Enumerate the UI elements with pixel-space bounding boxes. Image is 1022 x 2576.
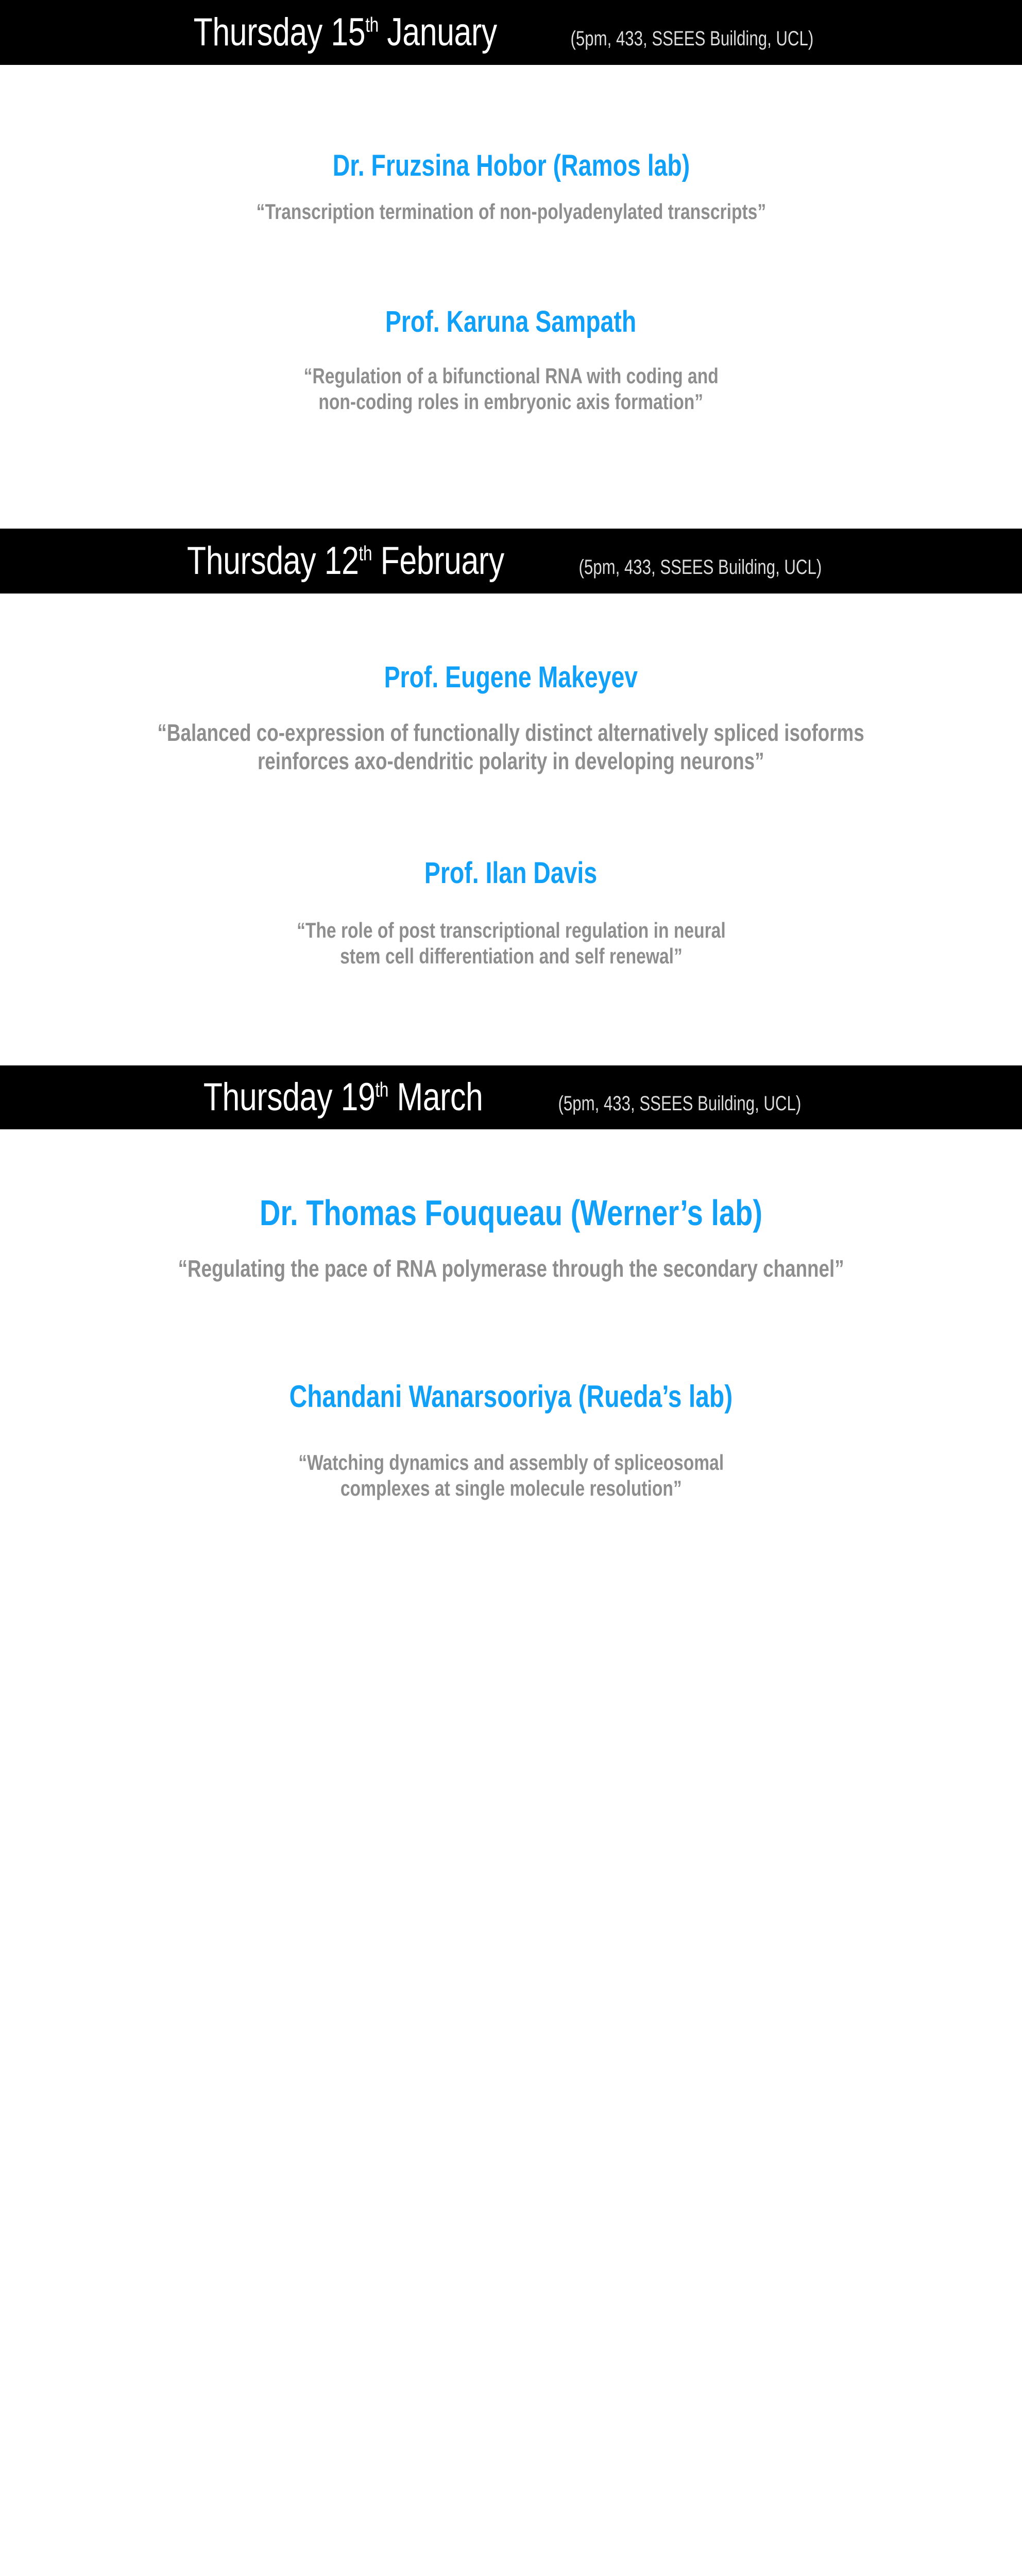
banner-venue-text: (5pm, 433, SSEES Building, UCL): [570, 28, 813, 49]
spacer: [0, 181, 1022, 199]
speaker-name: Prof. Ilan Davis: [0, 858, 1022, 889]
banner-ordinal: th: [375, 1079, 388, 1101]
banner-day: 15: [331, 10, 366, 54]
spacer: [0, 889, 1022, 918]
banner-day: 12: [325, 539, 359, 583]
title-line: “Balanced co-expression of functionally …: [0, 719, 1022, 747]
title-line: complexes at single molecule resolution”: [0, 1476, 1022, 1501]
spacer: [0, 337, 1022, 363]
banner-date-text: Thursday 15th January: [194, 13, 497, 52]
spacer: [0, 693, 1022, 719]
date-banner-february: Thursday 12th February (5pm, 433, SSEES …: [0, 529, 1022, 594]
talk-title: “Balanced co-expression of functionally …: [0, 719, 1022, 775]
banner-ordinal: th: [366, 14, 379, 37]
banner-day: 19: [340, 1075, 375, 1119]
banner-month: March: [397, 1075, 483, 1119]
title-line: “Regulation of a bifunctional RNA with c…: [0, 363, 1022, 389]
talk-entry: Chandani Wanarsooriya (Rueda’s lab) “Wat…: [0, 1381, 1022, 1501]
banner-date-text: Thursday 12th February: [187, 541, 504, 581]
talk-title: “The role of post transcriptional regula…: [0, 918, 1022, 969]
talk-title: “Transcription termination of non-polyad…: [0, 199, 1022, 225]
seminar-poster: Thursday 15th January (5pm, 433, SSEES B…: [0, 0, 1022, 2576]
banner-month: February: [380, 539, 504, 583]
speaker-name: Chandani Wanarsooriya (Rueda’s lab): [0, 1381, 1022, 1413]
date-banner-january: Thursday 15th January (5pm, 433, SSEES B…: [0, 0, 1022, 65]
banner-inner: Thursday 12th February (5pm, 433, SSEES …: [147, 541, 856, 581]
banner-inner: Thursday 15th January (5pm, 433, SSEES B…: [156, 13, 847, 52]
speaker-name: Prof. Eugene Makeyev: [0, 662, 1022, 693]
speaker-name: Dr. Fruzsina Hobor (Ramos lab): [0, 150, 1022, 181]
banner-ordinal: th: [359, 543, 372, 565]
talk-title: “Regulating the pace of RNA polymerase t…: [0, 1255, 1022, 1282]
talk-entry: Prof. Ilan Davis “The role of post trans…: [0, 858, 1022, 969]
talk-entry: Dr. Fruzsina Hobor (Ramos lab) “Transcri…: [0, 150, 1022, 225]
date-banner-march: Thursday 19th March (5pm, 433, SSEES Bui…: [0, 1065, 1022, 1129]
banner-inner: Thursday 19th March (5pm, 433, SSEES Bui…: [168, 1078, 836, 1117]
talk-entry: Dr. Thomas Fouqueau (Werner’s lab) “Regu…: [0, 1194, 1022, 1282]
speaker-name: Prof. Karuna Sampath: [0, 307, 1022, 337]
banner-venue-text: (5pm, 433, SSEES Building, UCL): [579, 557, 822, 578]
banner-month: January: [387, 10, 498, 54]
title-line: “Watching dynamics and assembly of splic…: [0, 1450, 1022, 1476]
talk-title: “Watching dynamics and assembly of splic…: [0, 1450, 1022, 1501]
speaker-name: Dr. Thomas Fouqueau (Werner’s lab): [0, 1194, 1022, 1232]
banner-date-text: Thursday 19th March: [203, 1078, 483, 1117]
title-line: reinforces axo-dendritic polarity in dev…: [0, 747, 1022, 775]
banner-venue-text: (5pm, 433, SSEES Building, UCL): [558, 1093, 801, 1114]
title-line: non-coding roles in embryonic axis forma…: [0, 389, 1022, 415]
banner-weekday: Thursday: [203, 1075, 332, 1119]
talk-title: “Regulation of a bifunctional RNA with c…: [0, 363, 1022, 414]
talk-entry: Prof. Karuna Sampath “Regulation of a bi…: [0, 307, 1022, 414]
title-line: “Regulating the pace of RNA polymerase t…: [0, 1255, 1022, 1282]
spacer: [0, 1232, 1022, 1255]
banner-weekday: Thursday: [187, 539, 316, 583]
banner-weekday: Thursday: [194, 10, 322, 54]
title-line: “Transcription termination of non-polyad…: [0, 199, 1022, 225]
title-line: “The role of post transcriptional regula…: [0, 918, 1022, 943]
title-line: stem cell differentiation and self renew…: [0, 943, 1022, 969]
spacer: [0, 1413, 1022, 1450]
talk-entry: Prof. Eugene Makeyev “Balanced co-expres…: [0, 662, 1022, 775]
